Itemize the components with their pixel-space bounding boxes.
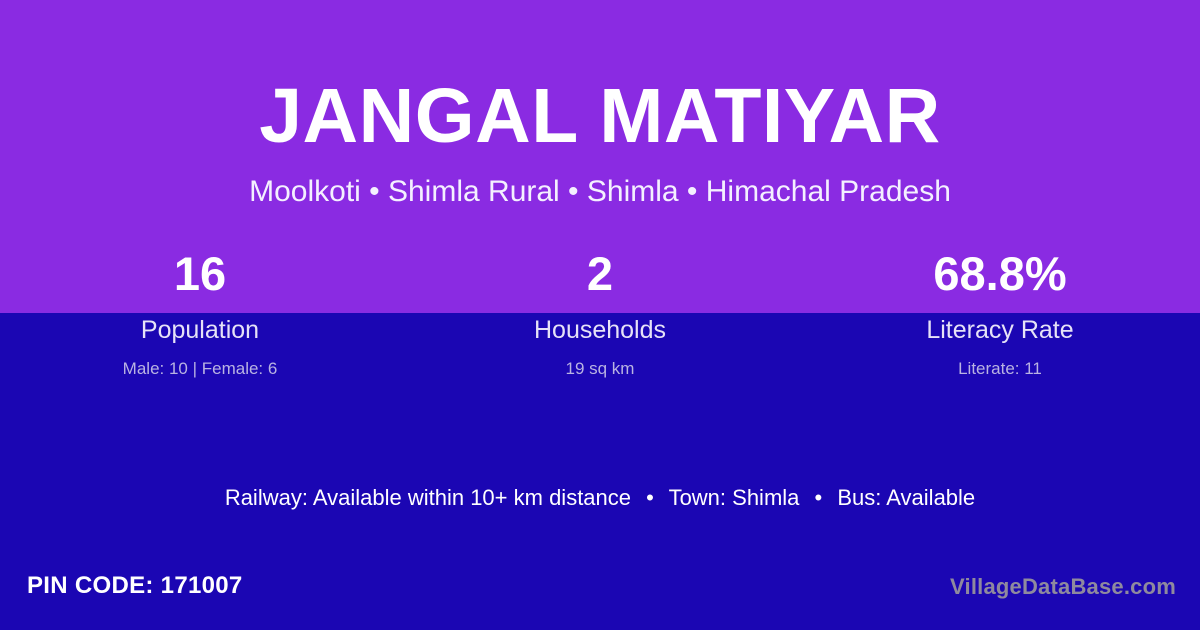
stat-label-households: Households bbox=[400, 313, 800, 343]
stat-value-households: 2 bbox=[400, 250, 800, 313]
card-footer: PIN CODE: 171007 VillageDataBase.com bbox=[0, 574, 1200, 614]
amenity-bus: Bus: Available bbox=[837, 485, 975, 510]
stat-population: 16 Population Male: 10 | Female: 6 bbox=[0, 250, 400, 377]
village-info-card: JANGAL MATIYAR Moolkoti • Shimla Rural •… bbox=[0, 0, 1200, 630]
amenity-town: Town: Shimla bbox=[669, 485, 800, 510]
stat-label-population: Population bbox=[0, 313, 400, 343]
card-header: JANGAL MATIYAR Moolkoti • Shimla Rural •… bbox=[0, 0, 1200, 207]
page-title: JANGAL MATIYAR bbox=[0, 0, 1200, 155]
stats-row: 16 Population Male: 10 | Female: 6 2 Hou… bbox=[0, 250, 1200, 377]
brand-watermark: VillageDataBase.com bbox=[950, 576, 1176, 598]
pin-code: PIN CODE: 171007 bbox=[27, 574, 243, 598]
stat-value-literacy-rate: 68.8% bbox=[800, 250, 1200, 313]
breadcrumb: Moolkoti • Shimla Rural • Shimla • Himac… bbox=[0, 155, 1200, 207]
stat-label-literacy-rate: Literacy Rate bbox=[800, 313, 1200, 343]
stat-sub-literacy-rate: Literate: 11 bbox=[800, 343, 1200, 377]
stat-households: 2 Households 19 sq km bbox=[400, 250, 800, 377]
amenity-separator: • bbox=[806, 485, 832, 510]
stat-sub-households: 19 sq km bbox=[400, 343, 800, 377]
amenity-separator: • bbox=[637, 485, 663, 510]
amenities-row: Railway: Available within 10+ km distanc… bbox=[0, 487, 1200, 509]
stat-sub-population: Male: 10 | Female: 6 bbox=[0, 343, 400, 377]
stat-value-population: 16 bbox=[0, 250, 400, 313]
amenity-railway: Railway: Available within 10+ km distanc… bbox=[225, 485, 631, 510]
stat-literacy-rate: 68.8% Literacy Rate Literate: 11 bbox=[800, 250, 1200, 377]
